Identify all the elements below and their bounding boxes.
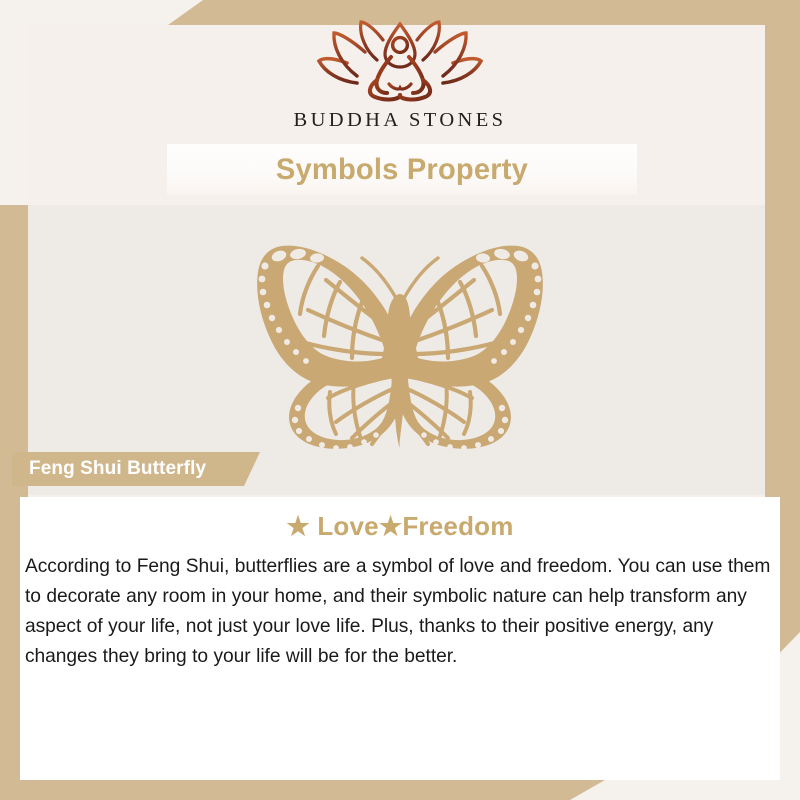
page-title: Symbols Property — [276, 153, 528, 187]
tag-banner: Feng Shui Butterfly — [12, 452, 260, 486]
frame-bottom-band — [0, 780, 605, 800]
tag-label: Feng Shui Butterfly — [29, 452, 206, 486]
love-freedom-heading: ★ Love★Freedom — [20, 497, 780, 542]
product-info-card: BUDDHA STONES Symbols Property — [0, 0, 800, 800]
brand-name: BUDDHA STONES — [294, 109, 507, 132]
butterfly-icon — [222, 230, 578, 454]
lotus-meditation-icon — [305, 16, 495, 108]
title-banner: Symbols Property — [167, 144, 637, 195]
description-card: ★ Love★Freedom According to Feng Shui, b… — [20, 497, 780, 780]
description-text: According to Feng Shui, butterflies are … — [20, 542, 780, 672]
brand-logo: BUDDHA STONES — [0, 16, 800, 144]
illustration-area — [0, 228, 800, 456]
